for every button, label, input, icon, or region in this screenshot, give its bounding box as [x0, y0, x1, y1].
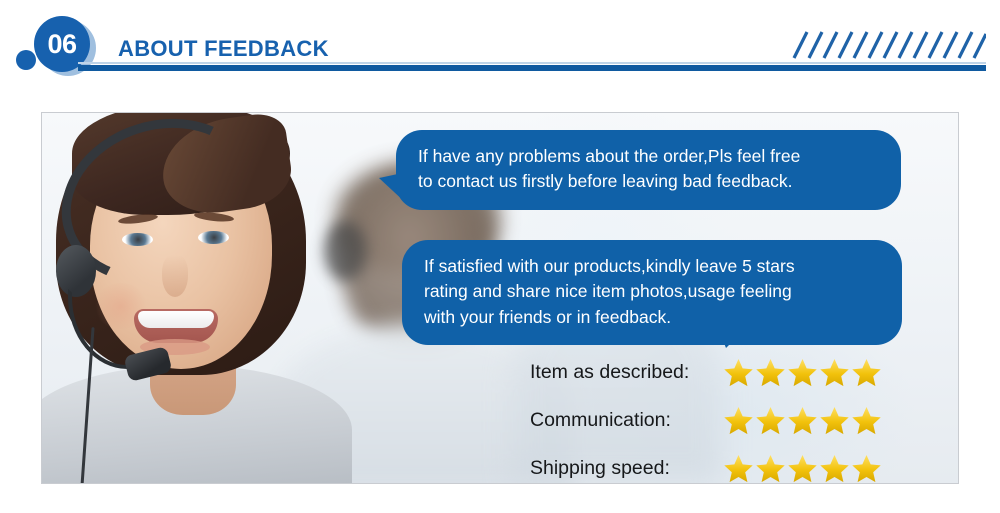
speech-bubble-problems: If have any problems about the order,Pls… [396, 130, 901, 210]
star-icon [755, 405, 786, 436]
star-icon [819, 405, 850, 436]
ratings-list: Item as described: Communication: [530, 350, 950, 484]
star-icon [723, 453, 754, 484]
headset-boom-icon [68, 289, 134, 369]
agent-mouth [134, 309, 218, 343]
star-icon [787, 453, 818, 484]
rating-row: Shipping speed: [530, 446, 950, 484]
star-rating-communication [723, 405, 882, 436]
star-rating-item-as-described [723, 357, 882, 388]
star-icon [851, 405, 882, 436]
feedback-section-page: 06 ABOUT FEEDBACK [0, 0, 1000, 513]
star-rating-shipping-speed [723, 453, 882, 484]
page-title: ABOUT FEEDBACK [118, 36, 329, 62]
speech-bubble-satisfied: If satisfied with our products,kindly le… [402, 240, 902, 345]
star-icon [723, 405, 754, 436]
background-person-headset-icon [324, 221, 366, 281]
star-icon [787, 357, 818, 388]
star-icon [723, 357, 754, 388]
section-header: 06 ABOUT FEEDBACK [0, 0, 1000, 95]
header-rule-light [78, 62, 986, 64]
section-number-label: 06 [47, 31, 76, 58]
header-rule-dark [78, 65, 986, 71]
rating-label-communication: Communication: [530, 409, 723, 432]
star-icon [819, 453, 850, 484]
decorative-dot-icon [16, 50, 36, 70]
star-icon [819, 357, 850, 388]
rating-label-item-as-described: Item as described: [530, 361, 723, 384]
star-icon [851, 357, 882, 388]
star-icon [755, 357, 786, 388]
rating-row: Item as described: [530, 350, 950, 395]
diagonal-hatch-icon [790, 28, 986, 60]
rating-label-shipping-speed: Shipping speed: [530, 457, 723, 480]
star-icon [787, 405, 818, 436]
star-icon [755, 453, 786, 484]
rating-row: Communication: [530, 398, 950, 443]
star-icon [851, 453, 882, 484]
agent-teeth [138, 311, 214, 328]
